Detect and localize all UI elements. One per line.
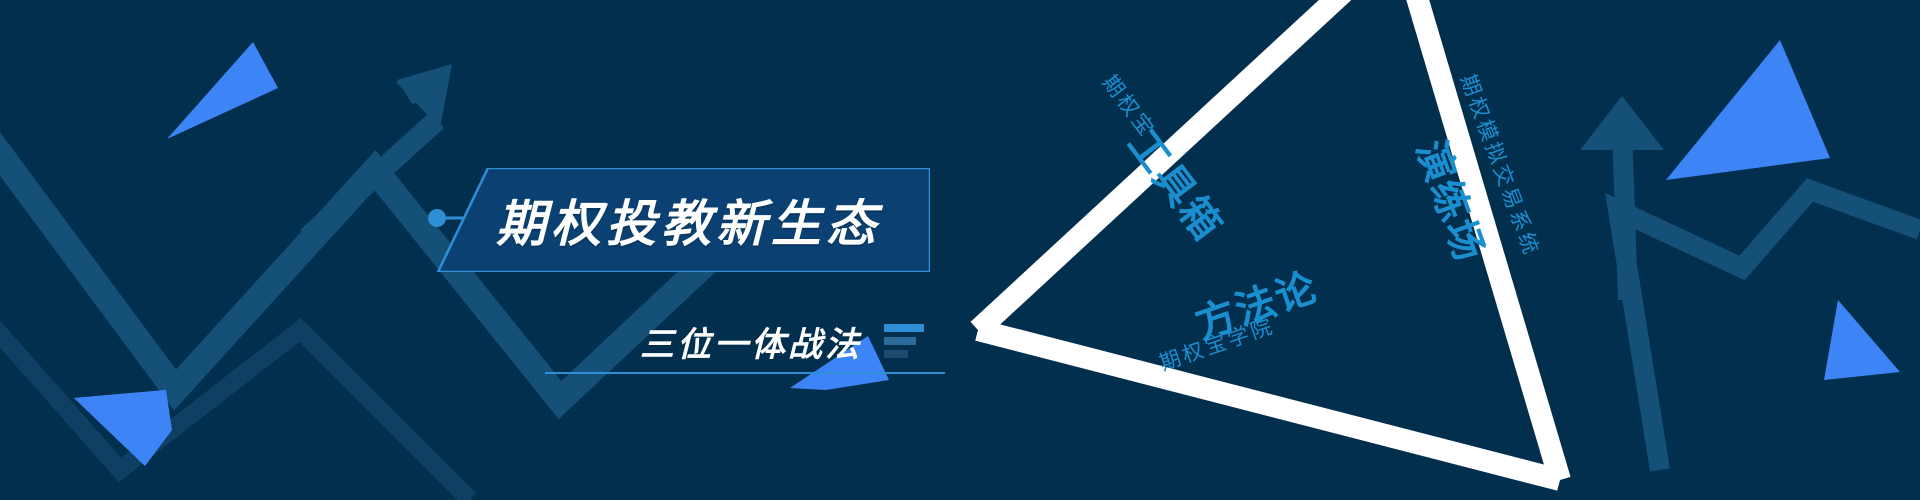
triangle-top-left [167,42,278,139]
triangle-bottom-right [1824,300,1900,380]
triangle-top-right [1666,40,1830,180]
page-title: 期权投教新生态 [496,182,916,258]
triangle-edge-bottom [978,330,1560,480]
subtitle-text: 三位一体战法 [640,317,862,366]
background-decoration [0,0,1920,500]
subtitle-row: 三位一体战法 [640,318,924,364]
subtitle-divider [545,372,945,374]
title-banner: 期权投教新生态 [430,168,930,272]
trend-arrow-up-right [1580,96,1664,300]
three-bar-stack-icon [884,324,924,358]
banner-hero: 期权投教新生态 三位一体战法 期权宝 工具箱 期权模拟交易系统 演练场 方法论 … [0,0,1920,500]
stock-zigzag-line-right [1618,190,1920,470]
